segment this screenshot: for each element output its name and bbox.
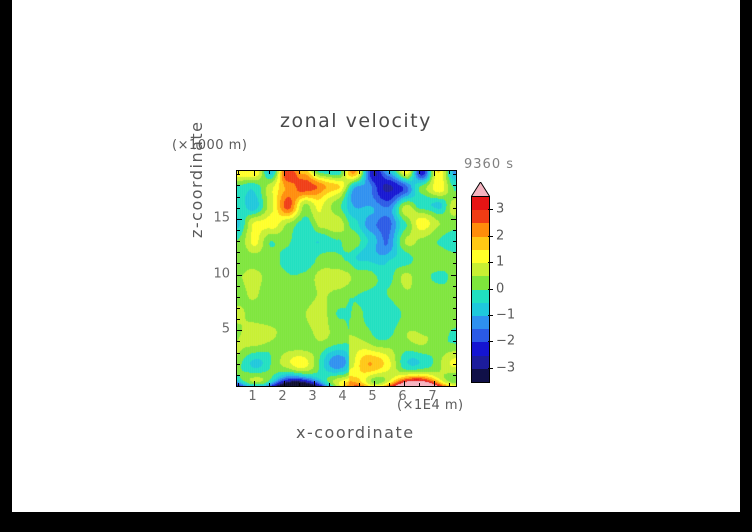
colorbar-tick bbox=[488, 262, 493, 263]
y-axis-minor-tick bbox=[237, 286, 240, 287]
colorbar-tick-label: 1 bbox=[496, 255, 504, 270]
colorbar-tick bbox=[488, 209, 493, 210]
colorbar-tick bbox=[488, 236, 493, 237]
y-axis-minor-tick bbox=[453, 308, 456, 309]
x-axis-minor-tick bbox=[389, 171, 390, 174]
x-axis-tick bbox=[374, 381, 375, 386]
timestamp-label: 9360 s bbox=[464, 157, 514, 172]
x-axis-tick bbox=[314, 381, 315, 386]
contour-plot-area bbox=[236, 170, 457, 387]
x-axis-minor-tick bbox=[269, 383, 270, 386]
colorbar-band bbox=[472, 302, 489, 316]
x-axis-tick bbox=[404, 171, 405, 176]
x-axis-tick-label: 5 bbox=[368, 389, 376, 404]
y-axis-minor-tick bbox=[237, 263, 240, 264]
y-axis-minor-tick bbox=[237, 252, 240, 253]
colorbar-tick bbox=[488, 315, 493, 316]
colorbar-tick-label: 0 bbox=[496, 281, 504, 296]
colorbar-over-cap bbox=[471, 182, 490, 197]
y-axis-tick-label: 5 bbox=[204, 322, 230, 337]
y-axis-minor-tick bbox=[453, 197, 456, 198]
y-axis-minor-tick bbox=[237, 308, 240, 309]
colorbar-tick bbox=[488, 341, 493, 342]
y-axis-minor-tick bbox=[237, 208, 240, 209]
y-axis-minor-tick bbox=[453, 241, 456, 242]
y-axis-minor-tick bbox=[237, 230, 240, 231]
x-axis-tick bbox=[434, 171, 435, 176]
y-axis-minor-tick bbox=[453, 353, 456, 354]
colorbar-band bbox=[472, 341, 489, 355]
zonal-velocity-field bbox=[237, 171, 456, 386]
x-axis-tick bbox=[344, 381, 345, 386]
colorbar-band bbox=[472, 209, 489, 223]
y-axis-minor-tick bbox=[453, 375, 456, 376]
y-axis-tick bbox=[237, 330, 242, 331]
y-axis-tick-label: 15 bbox=[204, 210, 230, 225]
y-axis-minor-tick bbox=[453, 286, 456, 287]
y-axis-minor-tick bbox=[453, 174, 456, 175]
x-axis-title: x-coordinate bbox=[296, 423, 415, 442]
y-axis-minor-tick bbox=[237, 353, 240, 354]
x-axis-minor-tick bbox=[389, 383, 390, 386]
x-axis-tick bbox=[314, 171, 315, 176]
y-axis-minor-tick bbox=[453, 230, 456, 231]
y-axis-minor-tick bbox=[237, 297, 240, 298]
colorbar-tick-label: 2 bbox=[496, 228, 504, 243]
y-axis-minor-tick bbox=[237, 341, 240, 342]
y-axis-minor-tick bbox=[453, 364, 456, 365]
x-axis-minor-tick bbox=[359, 383, 360, 386]
colorbar-tick bbox=[488, 368, 493, 369]
y-axis-minor-tick bbox=[237, 174, 240, 175]
y-axis-minor-tick bbox=[453, 208, 456, 209]
colorbar-band bbox=[472, 355, 489, 369]
colorbar-band bbox=[472, 315, 489, 329]
colorbar-band bbox=[472, 368, 489, 382]
y-axis-minor-tick bbox=[237, 185, 240, 186]
page-title: zonal velocity bbox=[280, 110, 432, 132]
colorbar-tick-label: −1 bbox=[496, 307, 515, 322]
y-axis-minor-tick bbox=[453, 263, 456, 264]
colorbar-band bbox=[472, 236, 489, 250]
y-axis-tick bbox=[237, 275, 242, 276]
x-axis-tick-label: 1 bbox=[248, 389, 256, 404]
colorbar-band bbox=[472, 222, 489, 236]
colorbar-tick bbox=[488, 289, 493, 290]
x-axis-tick bbox=[254, 171, 255, 176]
x-axis-tick bbox=[434, 381, 435, 386]
colorbar-band bbox=[472, 249, 489, 263]
y-axis-tick bbox=[451, 275, 456, 276]
x-axis-minor-tick bbox=[449, 383, 450, 386]
y-axis-minor-tick bbox=[237, 319, 240, 320]
colorbar-band bbox=[472, 289, 489, 303]
y-axis-minor-tick bbox=[237, 375, 240, 376]
x-axis-minor-tick bbox=[449, 171, 450, 174]
colorbar-tick-label: −2 bbox=[496, 334, 515, 349]
x-axis-tick bbox=[344, 171, 345, 176]
x-axis-tick bbox=[284, 381, 285, 386]
x-axis-tick bbox=[404, 381, 405, 386]
x-axis-minor-tick bbox=[329, 171, 330, 174]
y-axis-minor-tick bbox=[237, 197, 240, 198]
y-axis-minor-tick bbox=[237, 364, 240, 365]
x-axis-minor-tick bbox=[329, 383, 330, 386]
y-axis-tick bbox=[451, 219, 456, 220]
x-axis-minor-tick bbox=[269, 171, 270, 174]
y-axis-minor-tick bbox=[453, 319, 456, 320]
x-axis-minor-tick bbox=[299, 171, 300, 174]
colorbar-tick-label: −3 bbox=[496, 360, 515, 375]
colorbar-band bbox=[472, 328, 489, 342]
x-axis-tick-label: 6 bbox=[398, 389, 406, 404]
y-axis-tick bbox=[451, 330, 456, 331]
y-axis-unit-label: (×1000 m) bbox=[172, 138, 247, 153]
colorbar-band bbox=[472, 275, 489, 289]
x-axis-minor-tick bbox=[419, 383, 420, 386]
figure-canvas: zonal velocity (×1000 m) 9360 s z-coordi… bbox=[12, 0, 740, 512]
y-axis-minor-tick bbox=[453, 252, 456, 253]
colorbar-tick-label: 3 bbox=[496, 202, 504, 217]
x-axis-tick-label: 2 bbox=[278, 389, 286, 404]
colorbar-band bbox=[472, 196, 489, 210]
x-axis-minor-tick bbox=[359, 171, 360, 174]
y-axis-minor-tick bbox=[237, 241, 240, 242]
y-axis-minor-tick bbox=[453, 341, 456, 342]
x-axis-tick bbox=[254, 381, 255, 386]
y-axis-tick-label: 10 bbox=[204, 266, 230, 281]
y-axis-minor-tick bbox=[453, 297, 456, 298]
x-axis-tick bbox=[374, 171, 375, 176]
x-axis-tick bbox=[284, 171, 285, 176]
x-axis-minor-tick bbox=[238, 383, 239, 386]
x-axis-minor-tick bbox=[419, 171, 420, 174]
colorbar bbox=[471, 196, 490, 383]
y-axis-tick bbox=[237, 219, 242, 220]
x-axis-minor-tick bbox=[299, 383, 300, 386]
x-axis-tick-label: 3 bbox=[308, 389, 316, 404]
y-axis-minor-tick bbox=[453, 185, 456, 186]
colorbar-band bbox=[472, 262, 489, 276]
x-axis-tick-label: 7 bbox=[428, 389, 436, 404]
x-axis-tick-label: 4 bbox=[338, 389, 346, 404]
